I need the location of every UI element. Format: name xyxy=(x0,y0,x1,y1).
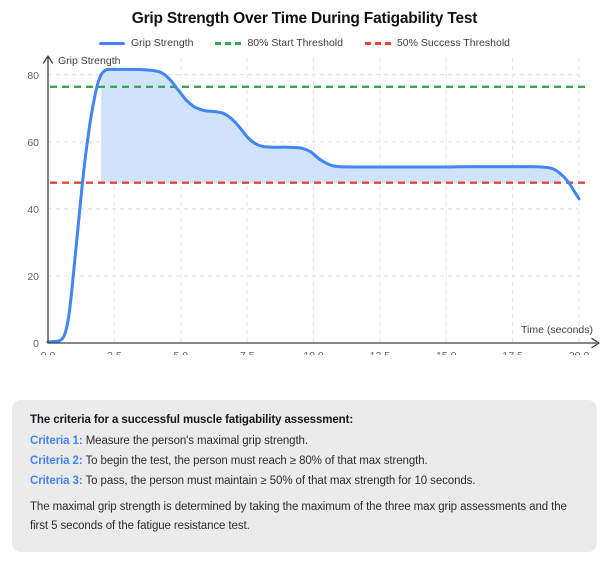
criteria-item-3: Criteria 3: To pass, the person must mai… xyxy=(30,475,579,487)
x-tick-label: 7.5 xyxy=(240,350,255,355)
legend-label: Grip Strength xyxy=(131,37,193,49)
legend-label: 80% Start Threshold xyxy=(247,37,343,49)
criteria-item-text: To pass, the person must maintain ≥ 50% … xyxy=(83,475,476,487)
legend-swatch-icon xyxy=(215,42,241,45)
grip-strength-line-chart: 0204060800.02.55.07.510.012.515.017.520.… xyxy=(0,50,609,355)
page-title: Grip Strength Over Time During Fatigabil… xyxy=(0,10,609,28)
criteria-item-key: Criteria 3: xyxy=(30,475,83,487)
y-tick-label: 80 xyxy=(27,70,39,82)
x-tick-label: 5.0 xyxy=(173,350,188,355)
criteria-item-key: Criteria 2: xyxy=(30,455,83,467)
criteria-item-text: To begin the test, the person must reach… xyxy=(83,455,428,467)
legend-label: 50% Success Threshold xyxy=(397,37,510,49)
legend-item-0[interactable]: Grip Strength xyxy=(99,37,193,49)
criteria-item-text: Measure the person's maximal grip streng… xyxy=(83,435,308,447)
y-tick-label: 40 xyxy=(27,204,39,216)
criteria-note: The maximal grip strength is determined … xyxy=(30,498,579,536)
x-tick-label: 15.0 xyxy=(436,350,457,355)
x-tick-label: 0.0 xyxy=(41,350,56,355)
x-tick-label: 17.5 xyxy=(502,350,523,355)
y-tick-label: 20 xyxy=(27,271,39,283)
y-tick-label: 0 xyxy=(33,338,39,350)
criteria-panel: The criteria for a successful muscle fat… xyxy=(12,400,597,552)
criteria-item-1: Criteria 1: Measure the person's maximal… xyxy=(30,435,579,447)
x-tick-label: 20.0 xyxy=(569,350,590,355)
criteria-item-key: Criteria 1: xyxy=(30,435,83,447)
criteria-list: Criteria 1: Measure the person's maximal… xyxy=(30,435,579,487)
x-tick-label: 10.0 xyxy=(303,350,324,355)
chart-legend: Grip Strength80% Start Threshold50% Succ… xyxy=(0,36,609,50)
criteria-item-2: Criteria 2: To begin the test, the perso… xyxy=(30,455,579,467)
y-tick-label: 60 xyxy=(27,137,39,149)
x-tick-label: 12.5 xyxy=(370,350,391,355)
legend-item-1[interactable]: 80% Start Threshold xyxy=(215,37,343,49)
criteria-heading: The criteria for a successful muscle fat… xyxy=(30,414,579,426)
chart-plot-area: 0204060800.02.55.07.510.012.515.017.520.… xyxy=(0,50,609,355)
legend-swatch-icon xyxy=(365,42,391,45)
legend-swatch-icon xyxy=(99,42,125,45)
x-tick-label: 2.5 xyxy=(107,350,122,355)
y-axis-label: Grip Strength xyxy=(58,55,121,67)
legend-item-2[interactable]: 50% Success Threshold xyxy=(365,37,510,49)
x-axis-label: Time (seconds) xyxy=(521,324,593,336)
